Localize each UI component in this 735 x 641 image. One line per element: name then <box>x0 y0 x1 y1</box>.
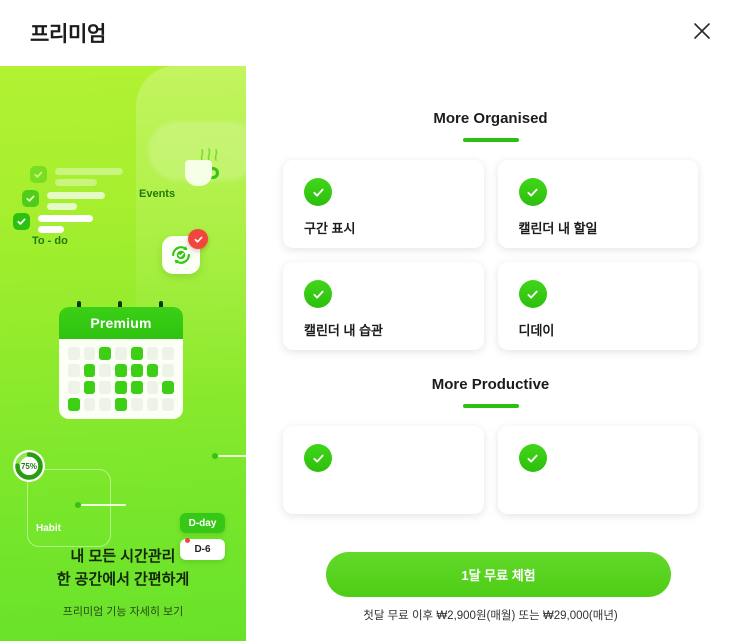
feature-grid-productive <box>246 408 735 514</box>
calendar-cell <box>68 347 80 360</box>
feature-card[interactable] <box>498 426 699 514</box>
promo-illustration-panel: To - do Events <box>0 66 246 641</box>
feature-card[interactable]: 캘린더 내 할일 <box>498 160 699 248</box>
check-circle-icon <box>304 178 332 206</box>
calendar-cell <box>162 381 174 394</box>
section-title-organised: More Organised <box>246 110 735 127</box>
calendar-cell <box>131 364 143 377</box>
calendar-cell <box>115 398 127 411</box>
page-title: 프리미엄 <box>30 18 106 48</box>
calendar-cell <box>147 347 159 360</box>
promo-copy: 내 모든 시간관리 한 공간에서 간편하게 프리미엄 기능 자세히 보기 <box>0 546 246 619</box>
close-icon[interactable] <box>685 14 719 48</box>
coffee-mug-icon <box>185 160 219 188</box>
todo-section-label: To - do <box>32 235 68 247</box>
calendar-cell <box>131 347 143 360</box>
progress-ring: 75% <box>12 449 46 483</box>
calendar-cell <box>115 347 127 360</box>
start-free-trial-button[interactable]: 1달 무료 체험 <box>326 552 671 597</box>
checkbox-icon <box>22 190 39 207</box>
calendar-cell <box>68 381 80 394</box>
habit-line <box>81 504 126 506</box>
feature-card[interactable]: 구간 표시 <box>283 160 484 248</box>
calendar-cell <box>147 381 159 394</box>
calendar-cell <box>84 398 96 411</box>
feature-card[interactable]: 캘린더 내 습관 <box>283 262 484 350</box>
calendar-cell <box>131 381 143 394</box>
premium-calendar-graphic: Premium <box>59 307 183 419</box>
calendar-cell <box>115 381 127 394</box>
calendar-title: Premium <box>90 315 151 331</box>
calendar-cell <box>99 364 111 377</box>
calendar-cell <box>99 398 111 411</box>
calendar-header: Premium <box>59 307 183 339</box>
calendar-cell <box>115 364 127 377</box>
todo-text-lines <box>55 166 123 186</box>
checkbox-icon <box>13 213 30 230</box>
calendar-cell <box>68 364 80 377</box>
steam-icon <box>199 144 221 161</box>
dday-badge: D-day <box>180 513 225 533</box>
premium-upsell-modal: 프리미엄 To - do <box>0 0 735 641</box>
section-title-productive: More Productive <box>246 376 735 393</box>
calendar-cell <box>147 398 159 411</box>
events-section-label: Events <box>139 188 175 200</box>
calendar-cell <box>162 398 174 411</box>
check-circle-icon <box>519 280 547 308</box>
calendar-cell <box>68 398 80 411</box>
feature-card-label: 디데이 <box>519 320 699 339</box>
todo-text-lines <box>47 190 105 210</box>
calendar-cell <box>131 398 143 411</box>
feature-card[interactable]: 디데이 <box>498 262 699 350</box>
calendar-cell <box>162 347 174 360</box>
todo-item <box>30 166 123 186</box>
check-circle-icon <box>519 178 547 206</box>
check-circle-icon <box>519 444 547 472</box>
feature-card-label: 캘린더 내 습관 <box>304 320 484 339</box>
price-note: 첫달 무료 이후 ₩2,900원(매월) 또는 ₩29,000(매년) <box>246 607 735 623</box>
habit-label: Habit <box>36 523 61 534</box>
calendar-cell <box>99 347 111 360</box>
feature-grid-organised: 구간 표시 캘린더 내 할일 캘린더 내 습관 디데이 <box>246 142 735 350</box>
calendar-cell <box>84 364 96 377</box>
calendar-cell <box>147 364 159 377</box>
footer-cta-bar: 1달 무료 체험 첫달 무료 이후 ₩2,900원(매월) 또는 ₩29,000… <box>246 519 735 641</box>
feature-card-label: 구간 표시 <box>304 218 484 237</box>
calendar-cell <box>162 364 174 377</box>
calendar-grid <box>59 339 183 419</box>
todo-text-lines <box>38 213 93 233</box>
dday-badge-label: D-day <box>189 518 217 529</box>
todo-item <box>13 213 93 233</box>
calendar-cell <box>99 381 111 394</box>
calendar-cell <box>84 347 96 360</box>
promo-headline-line1: 내 모든 시간관리 <box>0 546 246 569</box>
modal-header: 프리미엄 <box>0 0 735 66</box>
calendar-cell <box>84 381 96 394</box>
check-circle-icon <box>304 444 332 472</box>
dday-chip-dot-icon <box>185 538 190 543</box>
feature-card-label: 캘린더 내 할일 <box>519 218 699 237</box>
promo-subtext-link[interactable]: 프리미엄 기능 자세히 보기 <box>0 603 246 619</box>
promo-headline-line2: 한 공간에서 간편하게 <box>0 569 246 592</box>
notification-badge-icon <box>188 229 208 249</box>
todo-item <box>22 190 105 210</box>
check-circle-icon <box>304 280 332 308</box>
timeline-line <box>218 455 246 457</box>
checkbox-icon <box>30 166 47 183</box>
feature-card[interactable] <box>283 426 484 514</box>
progress-percent-label: 75% <box>12 449 46 483</box>
